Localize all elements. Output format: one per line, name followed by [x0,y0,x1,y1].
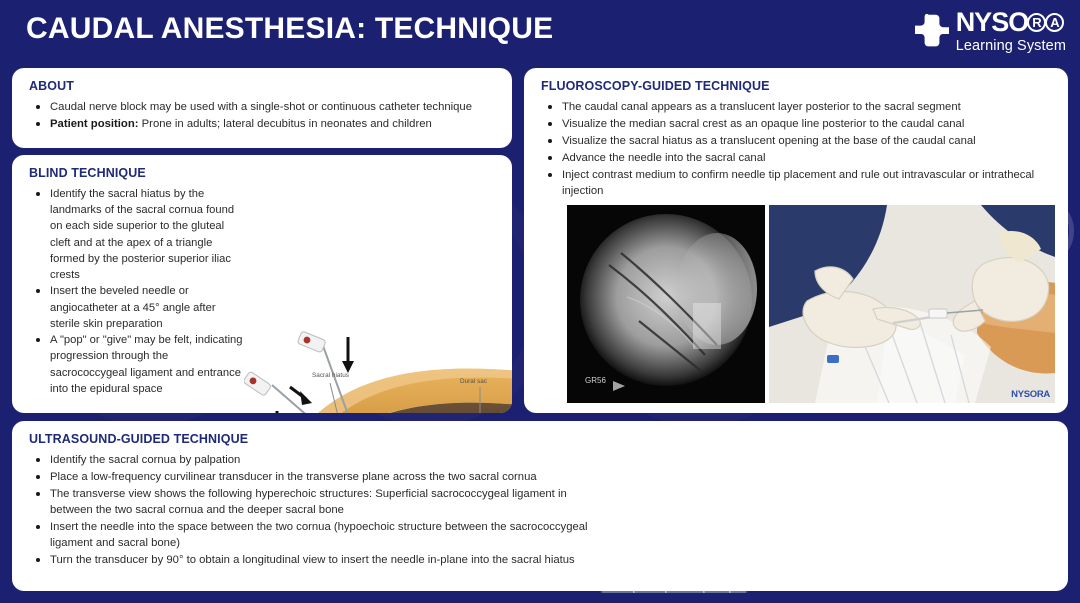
nysora-stamp-text: NYSORA [1011,389,1050,400]
list-item: A "pop" or "give" may be felt, indicatin… [29,332,244,397]
card-fluoro-title: FLUOROSCOPY-GUIDED TECHNIQUE [541,79,770,93]
sacral-anatomy-illustration: Sacral hiatus Sacrococcygeal ligament Sa… [244,325,512,413]
page-header: CAUDAL ANESTHESIA: TECHNIQUE NYSO R A Le… [0,0,1080,62]
list-item: The transverse view shows the following … [29,486,609,518]
label-dural-sac: Dural sac [460,378,488,385]
card-about: ABOUT Caudal nerve block may be used wit… [12,68,512,148]
logo-letter-a: A [1045,13,1064,32]
xray-overlay-text: GR56 [585,376,606,385]
logo-wordmark: NYSO R A [956,9,1066,36]
bullet-text: Prone in adults; lateral decubitus in ne… [142,118,432,130]
card-us-title: ULTRASOUND-GUIDED TECHNIQUE [29,432,248,446]
page-title: CAUDAL ANESTHESIA: TECHNIQUE [26,12,553,46]
list-item: Caudal nerve block may be used with a si… [29,99,499,115]
list-item: Patient position: Prone in adults; later… [29,116,499,132]
logo-word-plain: NYSO [956,9,1029,36]
list-item: Visualize the median sacral crest as an … [541,116,1053,132]
list-item: Turn the transducer by 90° to obtain a l… [29,552,609,568]
list-item: Inject contrast medium to confirm needle… [541,167,1053,199]
nysora-logo: NYSO R A Learning System [915,6,1066,56]
card-us-list: Identify the sacral cornua by palpation … [29,452,609,569]
list-item: Identify the sacral cornua by palpation [29,452,609,468]
card-fluoro-list: The caudal canal appears as a translucen… [541,99,1053,200]
card-about-title: ABOUT [29,79,74,93]
list-item: Advance the needle into the sacral canal [541,150,1053,166]
fluoroscopy-images: GR56 [567,205,1055,403]
list-item: The caudal canal appears as a translucen… [541,99,1053,115]
fluoroscopy-procedure-photo: NYSORA [769,205,1055,403]
list-item: Place a low-frequency curvilinear transd… [29,469,609,485]
logo-letter-r: R [1027,13,1046,32]
card-ultrasound-technique: ULTRASOUND-GUIDED TECHNIQUE Identify the… [12,421,1068,591]
nysora-stamp: NYSORA [1011,389,1050,400]
list-item: Insert the needle into the space between… [29,519,609,551]
medical-cross-icon [915,14,949,48]
card-fluoroscopy-technique: FLUOROSCOPY-GUIDED TECHNIQUE The caudal … [524,68,1068,413]
label-sacral-hiatus: Sacral hiatus [312,372,349,379]
logo-subtitle: Learning System [956,39,1066,54]
card-blind-title: BLIND TECHNIQUE [29,166,146,180]
list-item: Identify the sacral hiatus by the landma… [29,186,244,283]
card-blind-list: Identify the sacral hiatus by the landma… [29,186,244,397]
bullet-text: Caudal nerve block may be used with a si… [50,101,472,113]
fluoroscopy-xray-image: GR56 [567,205,765,403]
card-about-list: Caudal nerve block may be used with a si… [29,99,499,133]
list-item: Visualize the sacral hiatus as a translu… [541,133,1053,149]
bullet-label: Patient position: [50,118,139,130]
card-blind-technique: BLIND TECHNIQUE Identify the sacral hiat… [12,155,512,413]
list-item: Insert the beveled needle or angiocathet… [29,283,244,332]
